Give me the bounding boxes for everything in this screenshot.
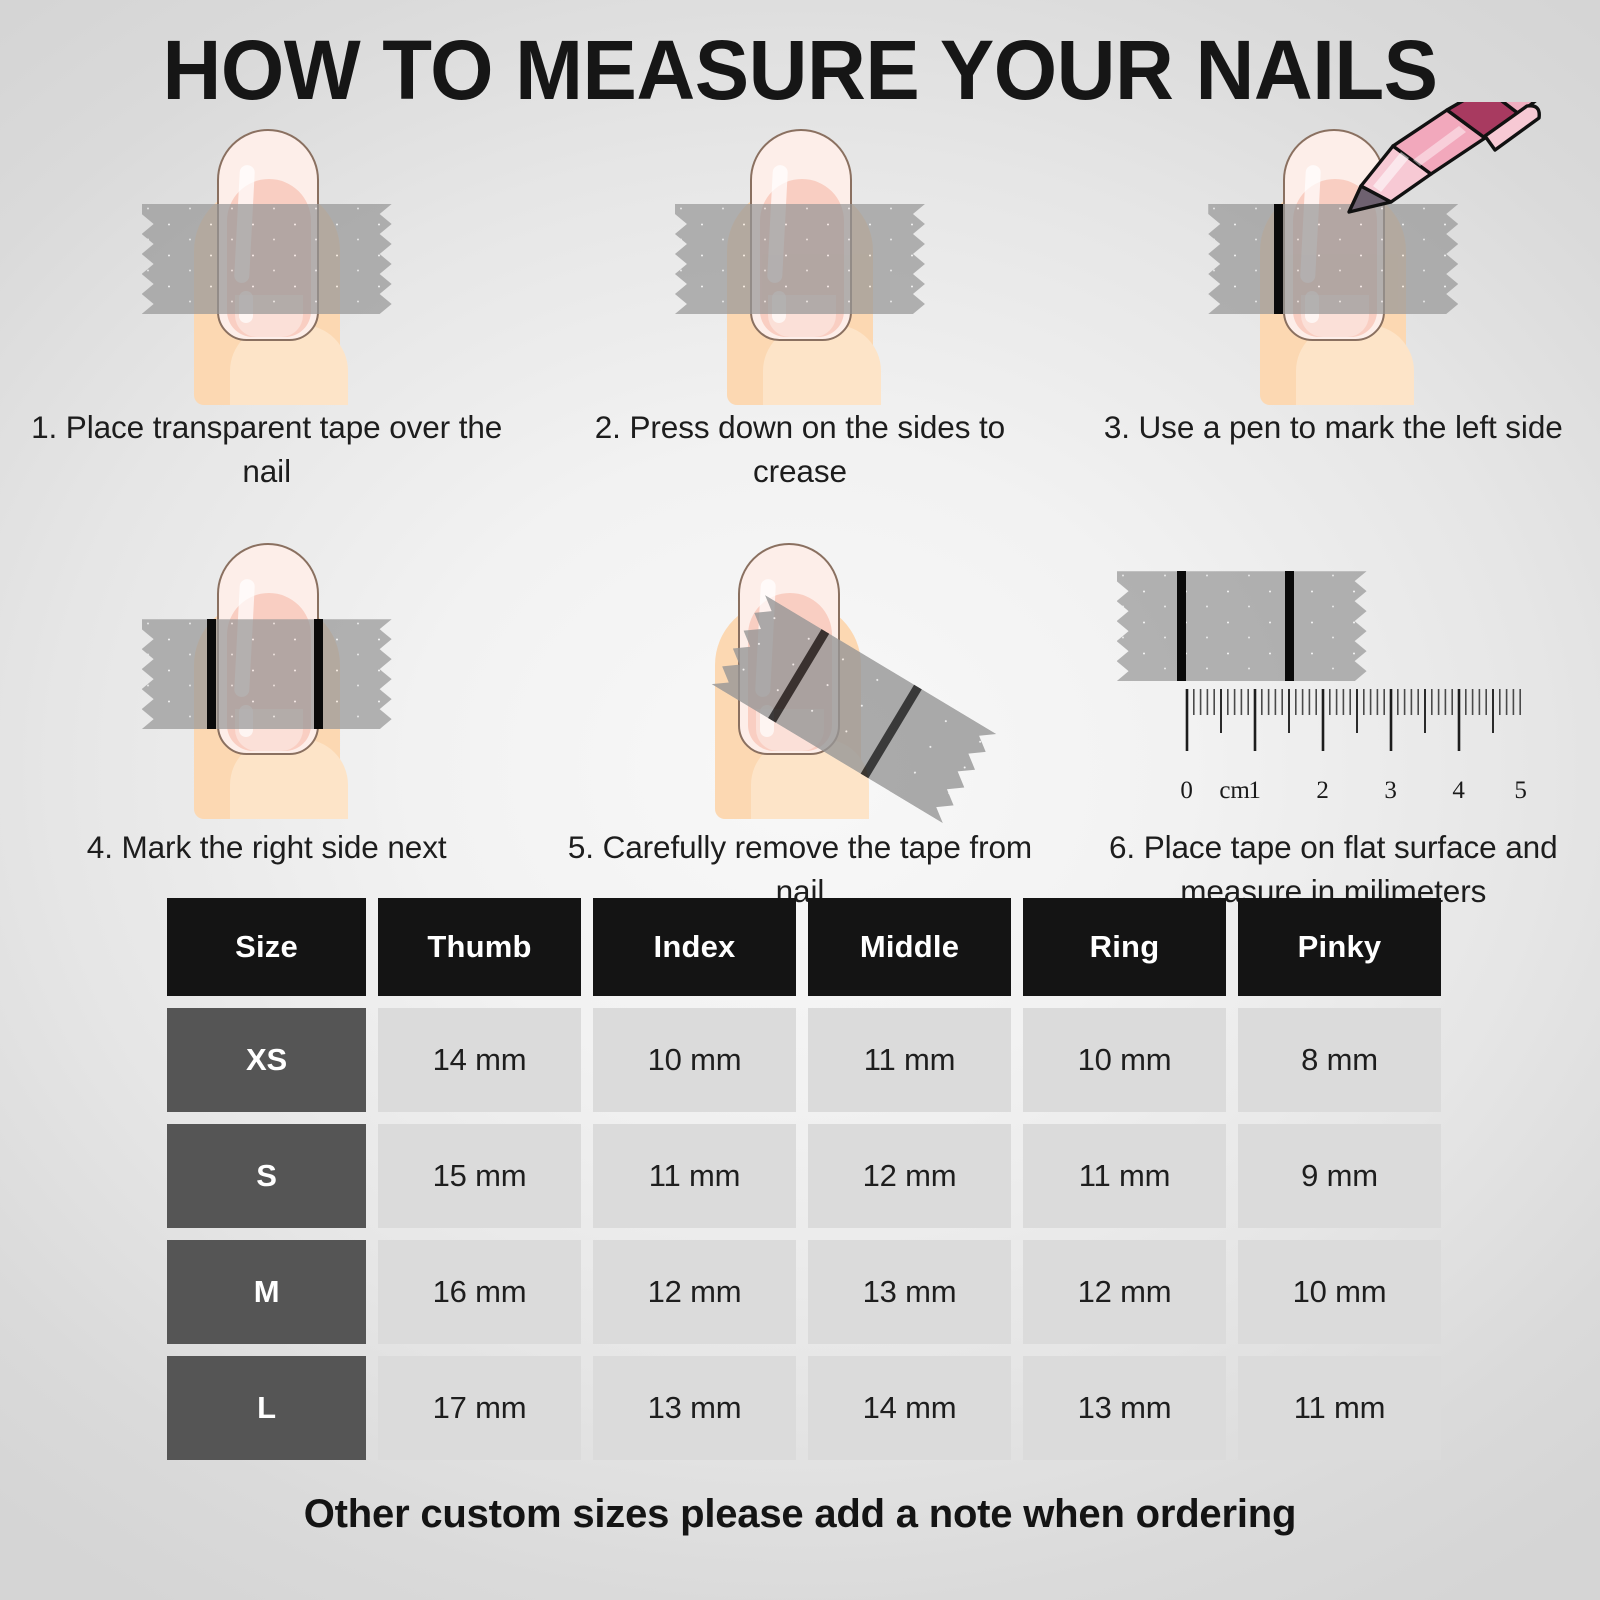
step-4-illustration	[0, 539, 533, 819]
cell-thumb: 17 mm	[378, 1356, 581, 1460]
column-header-size: Size	[167, 898, 366, 996]
cell-ring: 12 mm	[1023, 1240, 1226, 1344]
ruler-graphic: 0 cm 1 2 3 4 5	[1125, 689, 1525, 801]
ruler-tick-1: 1	[1248, 777, 1261, 805]
tape-texture	[142, 204, 392, 314]
ruler-tick-2: 2	[1316, 777, 1329, 805]
step-6: 0 cm 1 2 3 4 5 6. Place tape on flat sur…	[1067, 539, 1600, 913]
step-2-illustration	[533, 120, 1066, 405]
cell-middle: 14 mm	[808, 1356, 1011, 1460]
cell-index: 13 mm	[593, 1356, 796, 1460]
cell-middle: 11 mm	[808, 1008, 1011, 1112]
tape-strip-creased	[675, 204, 925, 314]
cell-thumb: 15 mm	[378, 1124, 581, 1228]
cell-middle: 13 mm	[808, 1240, 1011, 1344]
step-3-caption: 3. Use a pen to mark the left side	[1067, 405, 1600, 449]
step-5-illustration	[533, 539, 1066, 819]
table-row: XS 14 mm 10 mm 11 mm 10 mm 8 mm	[167, 1008, 1441, 1112]
cell-index: 10 mm	[593, 1008, 796, 1112]
page-title: HOW TO MEASURE YOUR NAILS	[24, 28, 1576, 112]
cell-pinky: 8 mm	[1238, 1008, 1441, 1112]
ruler-tick-3: 3	[1384, 777, 1397, 805]
footer-note: Other custom sizes please add a note whe…	[0, 1492, 1600, 1537]
cell-index: 12 mm	[593, 1240, 796, 1344]
column-header-thumb: Thumb	[378, 898, 581, 996]
column-header-middle: Middle	[808, 898, 1011, 996]
ruler-ticks	[1125, 689, 1525, 781]
steps-row-1: 1. Place transparent tape over the nail …	[0, 120, 1600, 493]
size-label: S	[167, 1124, 366, 1228]
cell-index: 11 mm	[593, 1124, 796, 1228]
ruler-tick-4: 4	[1452, 777, 1465, 805]
step-5: 5. Carefully remove the tape from nail	[533, 539, 1066, 913]
table-row: M 16 mm 12 mm 13 mm 12 mm 10 mm	[167, 1240, 1441, 1344]
ruler-tick-5: 5	[1514, 777, 1527, 805]
step-3-illustration	[1067, 120, 1600, 405]
step-3: 3. Use a pen to mark the left side	[1067, 120, 1600, 493]
tape-strip	[142, 619, 392, 729]
step-1-illustration	[0, 120, 533, 405]
step-2: 2. Press down on the sides to crease	[533, 120, 1066, 493]
ruler-labels: 0 cm 1 2 3 4 5	[1125, 777, 1525, 807]
table-header-row: Size Thumb Index Middle Ring Pinky	[167, 898, 1441, 996]
steps-row-2: 4. Mark the right side next	[0, 539, 1600, 913]
cell-pinky: 10 mm	[1238, 1240, 1441, 1344]
cell-ring: 13 mm	[1023, 1356, 1226, 1460]
step-1: 1. Place transparent tape over the nail	[0, 120, 533, 493]
pen-icon	[1335, 102, 1565, 222]
step-6-illustration: 0 cm 1 2 3 4 5	[1067, 539, 1600, 819]
tape-strip	[142, 204, 392, 314]
ruler-tick-0: 0	[1180, 777, 1193, 805]
column-header-ring: Ring	[1023, 898, 1226, 996]
size-label: M	[167, 1240, 366, 1344]
ruler-unit-label: cm	[1219, 777, 1250, 805]
left-mark	[1274, 204, 1283, 314]
tape-strip-flat	[1117, 571, 1367, 681]
cell-thumb: 16 mm	[378, 1240, 581, 1344]
cell-ring: 10 mm	[1023, 1008, 1226, 1112]
tape-texture	[675, 204, 925, 314]
cell-ring: 11 mm	[1023, 1124, 1226, 1228]
step-4: 4. Mark the right side next	[0, 539, 533, 913]
table-row: L 17 mm 13 mm 14 mm 13 mm 11 mm	[167, 1356, 1441, 1460]
cell-middle: 12 mm	[808, 1124, 1011, 1228]
tape-texture	[142, 619, 392, 729]
right-mark	[314, 619, 323, 729]
step-4-caption: 4. Mark the right side next	[0, 825, 533, 869]
tape-texture	[1117, 571, 1367, 681]
right-mark	[1285, 571, 1294, 681]
table-row: S 15 mm 11 mm 12 mm 11 mm 9 mm	[167, 1124, 1441, 1228]
step-1-caption: 1. Place transparent tape over the nail	[0, 405, 533, 493]
steps-section: 1. Place transparent tape over the nail …	[0, 120, 1600, 913]
size-chart-table: Size Thumb Index Middle Ring Pinky XS 14…	[167, 898, 1441, 1472]
column-header-index: Index	[593, 898, 796, 996]
step-2-caption: 2. Press down on the sides to crease	[533, 405, 1066, 493]
left-mark	[207, 619, 216, 729]
cell-thumb: 14 mm	[378, 1008, 581, 1112]
cell-pinky: 11 mm	[1238, 1356, 1441, 1460]
column-header-pinky: Pinky	[1238, 898, 1441, 996]
size-label: XS	[167, 1008, 366, 1112]
cell-pinky: 9 mm	[1238, 1124, 1441, 1228]
left-mark	[1177, 571, 1186, 681]
size-label: L	[167, 1356, 366, 1460]
